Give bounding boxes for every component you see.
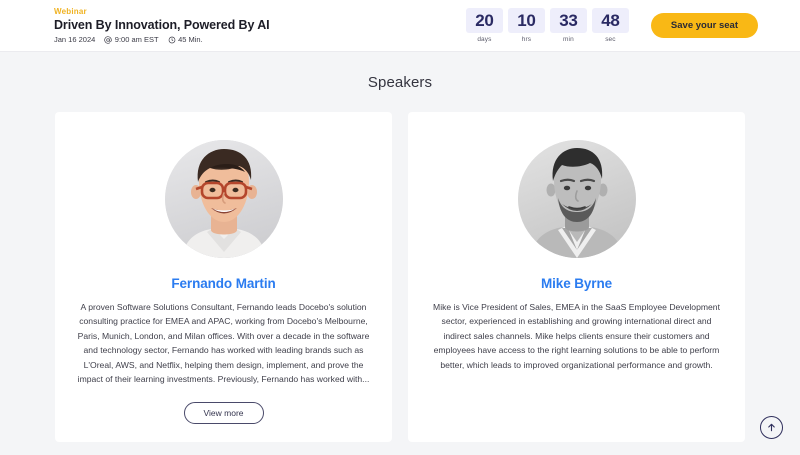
arrow-up-icon xyxy=(766,422,777,433)
countdown-unit-days: 20 days xyxy=(466,8,503,43)
speaker-name: Fernando Martin xyxy=(171,276,275,291)
main-content: Speakers xyxy=(0,52,800,455)
countdown-days-value: 20 xyxy=(466,8,503,33)
at-sign-icon xyxy=(104,36,112,44)
webinar-meta-row: Jan 16 2024 9:00 am EST xyxy=(54,35,270,45)
speaker-card: Mike Byrne Mike is Vice President of Sal… xyxy=(408,112,745,442)
avatar xyxy=(518,140,636,258)
speaker-bio: Mike is Vice President of Sales, EMEA in… xyxy=(430,300,723,372)
speakers-section-title: Speakers xyxy=(0,52,800,91)
scroll-to-top-button[interactable] xyxy=(760,416,783,439)
countdown-hours-label: hrs xyxy=(522,36,531,43)
speaker-card: Fernando Martin A proven Software Soluti… xyxy=(55,112,392,442)
webinar-time-text: 9:00 am EST xyxy=(115,35,159,45)
webinar-duration: 45 Min. xyxy=(168,35,203,45)
countdown-seconds-value: 48 xyxy=(592,8,629,33)
webinar-date: Jan 16 2024 xyxy=(54,35,95,45)
webinar-title: Driven By Innovation, Powered By AI xyxy=(54,18,270,33)
webinar-time: 9:00 am EST xyxy=(104,35,158,45)
save-your-seat-button[interactable]: Save your seat xyxy=(651,13,758,38)
countdown-unit-minutes: 33 min xyxy=(550,8,587,43)
countdown-unit-hours: 10 hrs xyxy=(508,8,545,43)
webinar-info: Webinar Driven By Innovation, Powered By… xyxy=(54,7,270,45)
countdown-hours-value: 10 xyxy=(508,8,545,33)
webinar-duration-text: 45 Min. xyxy=(178,35,203,45)
countdown-timer: 20 days 10 hrs 33 min 48 sec xyxy=(466,8,629,43)
countdown-days-label: days xyxy=(477,36,491,43)
webinar-date-text: Jan 16 2024 xyxy=(54,35,95,45)
countdown-minutes-label: min xyxy=(563,36,574,43)
speaker-name: Mike Byrne xyxy=(541,276,612,291)
speaker-bio: A proven Software Solutions Consultant, … xyxy=(77,300,370,386)
webinar-eyebrow-label: Webinar xyxy=(54,7,270,17)
header-actions: 20 days 10 hrs 33 min 48 sec Save your s… xyxy=(466,8,758,43)
fernando-martin-headshot-image xyxy=(165,140,283,258)
view-more-button[interactable]: View more xyxy=(184,402,264,424)
speakers-card-list: Fernando Martin A proven Software Soluti… xyxy=(0,112,800,442)
mike-byrne-headshot-image xyxy=(518,140,636,258)
countdown-seconds-label: sec xyxy=(605,36,615,43)
page-header: Webinar Driven By Innovation, Powered By… xyxy=(0,0,800,52)
countdown-minutes-value: 33 xyxy=(550,8,587,33)
avatar xyxy=(165,140,283,258)
clock-icon xyxy=(168,36,176,44)
countdown-unit-seconds: 48 sec xyxy=(592,8,629,43)
